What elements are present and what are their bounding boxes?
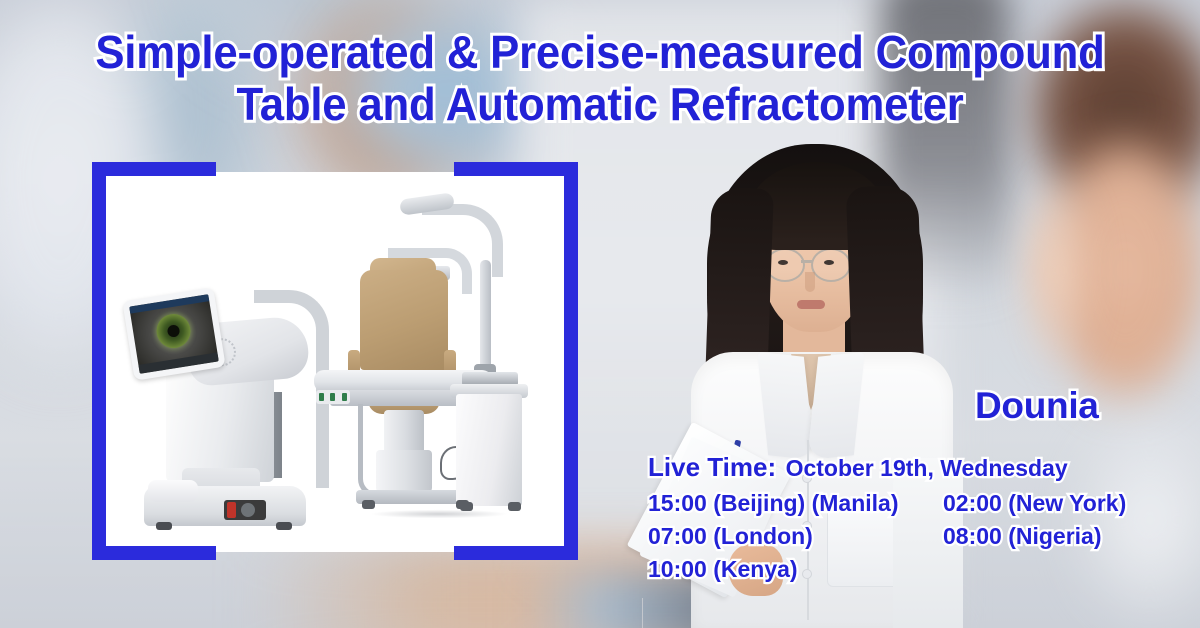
instrument-cabinet — [456, 394, 522, 506]
timezone-right-2: 08:00 (Nigeria) — [943, 521, 1102, 551]
frame-corner-bottom-right — [454, 546, 578, 560]
timezone-right-1: 02:00 (New York) — [943, 488, 1126, 518]
cabinet-door-seam — [642, 598, 643, 628]
timezone-left-2: 07:00 (London) — [648, 521, 943, 551]
eyeglasses-lens-right-icon — [811, 248, 851, 282]
presenter-nose — [805, 272, 815, 292]
chair-backrest — [360, 270, 448, 370]
live-schedule: Live Time: October 19th, Wednesday 15:00… — [648, 452, 1168, 587]
eyeglasses-bridge-icon — [801, 260, 813, 263]
frame-corner-top-left — [92, 162, 216, 176]
power-indicator-icon — [227, 502, 236, 518]
control-button-icon — [342, 393, 347, 401]
presenter-name: Dounia — [975, 386, 1099, 426]
live-webinar-banner: Simple-operated & Precise-measured Compo… — [0, 0, 1200, 628]
refractometer-foot-right — [276, 522, 292, 530]
control-button-icon — [330, 393, 335, 401]
product-image-frame — [92, 162, 578, 560]
timezone-left-1: 15:00 (Beijing) (Manila) — [648, 488, 943, 518]
frame-border-right — [564, 162, 578, 560]
live-date-value: October 19th, Wednesday — [786, 455, 1068, 481]
frame-corner-top-right — [454, 162, 578, 176]
product-shadow — [344, 508, 534, 520]
unit-control-panel — [316, 390, 350, 404]
schedule-header: Live Time: October 19th, Wednesday — [648, 452, 1168, 483]
product-photo-panel — [104, 172, 566, 552]
presenter-lips — [797, 300, 825, 309]
auto-refractometer-illustration — [126, 272, 326, 532]
refraction-chair-unit-illustration — [304, 194, 564, 534]
chair-lift-base — [376, 450, 432, 492]
refractometer-power-switch — [224, 500, 266, 520]
lcd-status-bar — [129, 294, 209, 313]
refractometer-lcd-screen — [122, 287, 225, 380]
schedule-row: 10:00 (Kenya) — [648, 554, 1168, 584]
schedule-row: 15:00 (Beijing) (Manila) 02:00 (New York… — [648, 488, 1168, 518]
frame-border-left — [92, 162, 106, 560]
power-knob-icon — [241, 503, 255, 517]
lcd-eye-image — [129, 294, 219, 374]
schedule-row: 07:00 (London) 08:00 (Nigeria) — [648, 521, 1168, 551]
frame-corner-bottom-left — [92, 546, 216, 560]
control-button-icon — [319, 393, 324, 401]
live-time-label: Live Time: — [648, 452, 776, 482]
timezone-left-3: 10:00 (Kenya) — [648, 554, 943, 584]
chair-lamp-pole — [480, 260, 491, 372]
refractometer-foot-left — [156, 522, 172, 530]
refractometer-chinrest — [148, 480, 198, 502]
